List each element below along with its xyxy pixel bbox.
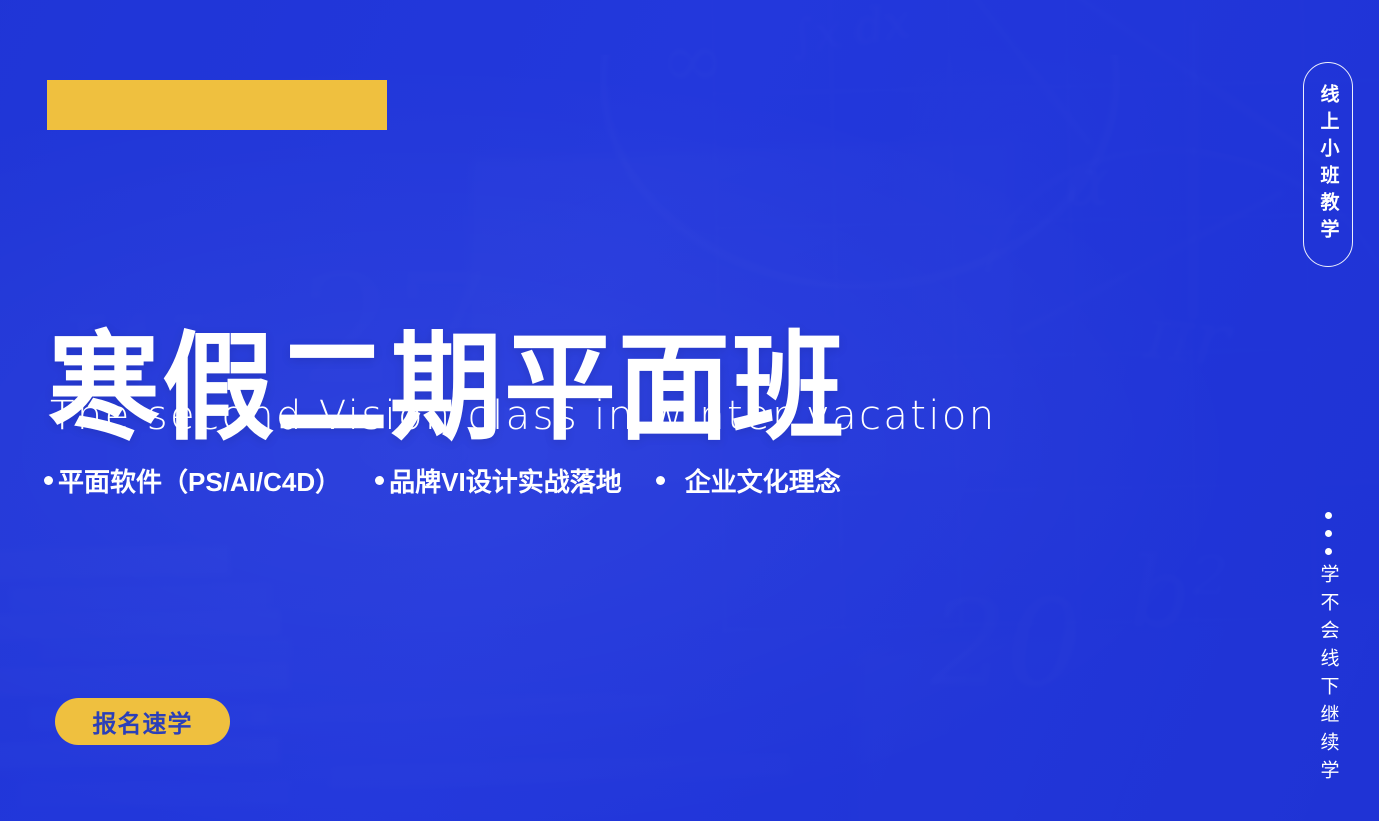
poster-content: 寒假二期平面班 The second Vision class in winte… <box>0 0 1379 821</box>
bullet-dot-icon <box>656 476 665 485</box>
feature-label: 品牌VI设计实战落地 <box>389 462 622 499</box>
three-dots-icon <box>1325 512 1332 555</box>
badge-label: 线上小班教学 <box>1319 84 1338 246</box>
enroll-button[interactable]: 报名速学 <box>55 698 230 745</box>
slogan-label: 学不会线下继续学 <box>1319 564 1338 788</box>
online-small-class-badge: 线上小班教学 <box>1303 62 1353 267</box>
feature-item-brand-vi: 品牌VI设计实战落地 <box>375 462 622 499</box>
bullet-dot-icon <box>375 476 384 485</box>
bullet-dot-icon <box>44 476 53 485</box>
page-subtitle: The second Vision class in winter vacati… <box>50 393 997 439</box>
feature-list: 平面软件（PS/AI/C4D） 品牌VI设计实战落地 企业文化理念 <box>44 462 841 499</box>
guarantee-slogan: 学不会线下继续学 <box>1303 512 1353 788</box>
feature-label: 平面软件（PS/AI/C4D） <box>58 462 341 499</box>
feature-label: 企业文化理念 <box>685 462 841 499</box>
feature-item-software: 平面软件（PS/AI/C4D） <box>44 462 341 499</box>
course-promo-poster: ∞ ∫x dx α πr b² 27 20 W 寒假二期平面班 <box>0 0 1379 821</box>
accent-bar <box>47 80 387 130</box>
feature-item-culture: 企业文化理念 <box>656 462 841 499</box>
